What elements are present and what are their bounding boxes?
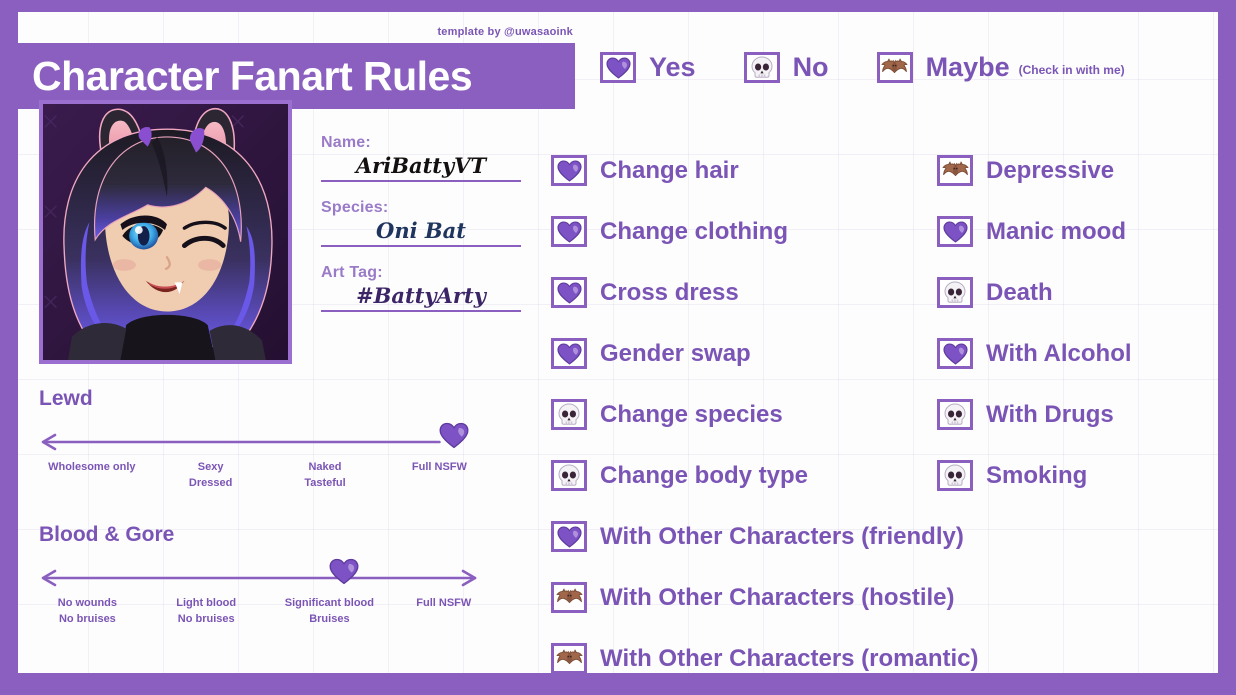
heart-icon <box>557 221 582 243</box>
slider-tick-line: Full NSFW <box>416 595 471 611</box>
slider-tick-line: Significant blood <box>285 595 374 611</box>
rule-row[interactable]: Change hair <box>551 140 937 201</box>
slider-tick-line: No bruises <box>58 611 117 627</box>
icon-box-heart <box>937 338 973 369</box>
legend-sublabel: (Check in with me) <box>1019 63 1125 83</box>
slider-tick-line: No wounds <box>58 595 117 611</box>
slider-tick: Full NSFW <box>416 595 471 611</box>
info-field: Art Tag:#BattyArty <box>321 264 521 312</box>
info-field-value[interactable]: AriBattyVT <box>321 152 521 182</box>
rule-row[interactable]: With Other Characters (romantic) <box>551 628 1211 673</box>
rule-label: Change species <box>600 401 783 429</box>
slider-tick-line: No bruises <box>176 611 236 627</box>
rule-label: Depressive <box>986 157 1114 185</box>
legend-item-maybe: Maybe(Check in with me) <box>877 52 1125 83</box>
rule-row[interactable]: Change clothing <box>551 201 937 262</box>
slider-tick-line: Full NSFW <box>412 459 467 475</box>
slider-tick: Light bloodNo bruises <box>176 595 236 627</box>
rules-wide-rows: With Other Characters (friendly)With Oth… <box>551 506 1211 673</box>
icon-box-skull <box>937 460 973 491</box>
rule-row[interactable]: Death <box>937 262 1211 323</box>
skull-icon <box>944 281 966 305</box>
rule-label: Cross dress <box>600 279 739 307</box>
slider-track[interactable] <box>39 427 519 457</box>
rules-right-column: DepressiveManic moodDeathWith AlcoholWit… <box>937 140 1211 506</box>
heart-icon <box>606 57 631 79</box>
info-field-label: Name: <box>321 134 521 152</box>
rule-row[interactable]: With Alcohol <box>937 323 1211 384</box>
slider-track[interactable] <box>39 563 519 593</box>
slider-tick-line: Naked <box>304 459 345 475</box>
info-field-label: Art Tag: <box>321 264 521 282</box>
rule-label: With Other Characters (romantic) <box>600 645 979 673</box>
rule-label: With Drugs <box>986 401 1114 429</box>
heart-icon <box>943 221 968 243</box>
icon-box-skull <box>551 399 587 430</box>
skull-icon <box>944 403 966 427</box>
slider-title: Lewd <box>39 387 519 411</box>
icon-box-skull <box>551 460 587 491</box>
lewd-slider[interactable]: LewdWholesome onlySexyDressedNakedTastef… <box>39 387 519 499</box>
icon-box-heart <box>551 216 587 247</box>
heart-icon <box>557 282 582 304</box>
slider-tick-line: Dressed <box>189 475 232 491</box>
bat-icon <box>942 161 969 181</box>
slider-tick-line: Wholesome only <box>48 459 135 475</box>
icon-box-bat <box>877 52 913 83</box>
rule-label: Smoking <box>986 462 1087 490</box>
slider-tick-line: Sexy <box>189 459 232 475</box>
rule-row[interactable]: Change body type <box>551 445 937 506</box>
rule-row[interactable]: With Drugs <box>937 384 1211 445</box>
slider-tick-labels: No woundsNo bruisesLight bloodNo bruises… <box>39 595 519 635</box>
legend-label: Maybe <box>926 52 1010 83</box>
rules-list: Change hairChange clothingCross dressGen… <box>551 140 1211 673</box>
heart-icon <box>557 343 582 365</box>
info-field: Name:AriBattyVT <box>321 134 521 182</box>
rule-label: With Alcohol <box>986 340 1132 368</box>
rule-row[interactable]: Smoking <box>937 445 1211 506</box>
slider-axis <box>39 427 489 457</box>
icon-box-bat <box>551 582 587 613</box>
slider-tick-labels: Wholesome onlySexyDressedNakedTastefulFu… <box>39 459 519 499</box>
icon-box-heart <box>551 155 587 186</box>
slider-tick: SexyDressed <box>189 459 232 491</box>
slider-tick-line: Tasteful <box>304 475 345 491</box>
slider-tick: Full NSFW <box>412 459 467 475</box>
bat-icon <box>556 649 583 669</box>
heart-icon <box>943 343 968 365</box>
rule-label: Change hair <box>600 157 739 185</box>
legend: YesNoMaybe(Check in with me) <box>600 52 1125 83</box>
rule-label: Manic mood <box>986 218 1126 246</box>
skull-icon <box>751 56 773 80</box>
skull-icon <box>558 403 580 427</box>
icon-box-bat <box>937 155 973 186</box>
heart-icon <box>557 526 582 548</box>
rules-sheet: template by @uwasaoink Character Fanart … <box>18 12 1218 673</box>
icon-box-heart <box>600 52 636 83</box>
character-portrait <box>39 100 292 364</box>
icon-box-heart <box>551 277 587 308</box>
slider-tick-line: Light blood <box>176 595 236 611</box>
rules-left-column: Change hairChange clothingCross dressGen… <box>551 140 937 506</box>
icon-box-heart <box>551 338 587 369</box>
bat-icon <box>556 588 583 608</box>
rule-row[interactable]: With Other Characters (hostile) <box>551 567 1211 628</box>
skull-icon <box>944 464 966 488</box>
legend-label: No <box>793 52 829 83</box>
slider-tick: No woundsNo bruises <box>58 595 117 627</box>
legend-item-no: No <box>744 52 829 83</box>
info-field: Species:Oni Bat <box>321 199 521 247</box>
slider-axis <box>39 563 489 593</box>
portrait-artwork <box>43 104 288 360</box>
rule-label: Change clothing <box>600 218 788 246</box>
rule-row[interactable]: Change species <box>551 384 937 445</box>
rule-label: With Other Characters (hostile) <box>600 584 955 612</box>
slider-heart-marker[interactable] <box>329 558 359 585</box>
slider-tick-line: Bruises <box>285 611 374 627</box>
icon-box-heart <box>937 216 973 247</box>
rule-row[interactable]: With Other Characters (friendly) <box>551 506 1211 567</box>
slider-tick: Wholesome only <box>48 459 135 475</box>
slider-title: Blood & Gore <box>39 523 519 547</box>
icon-box-heart <box>551 521 587 552</box>
heart-icon <box>557 160 582 182</box>
rule-row[interactable]: Manic mood <box>937 201 1211 262</box>
icon-box-bat <box>551 643 587 673</box>
rule-label: Change body type <box>600 462 808 490</box>
legend-label: Yes <box>649 52 696 83</box>
rule-row[interactable]: Cross dress <box>551 262 937 323</box>
character-info: Name:AriBattyVTSpecies:Oni BatArt Tag:#B… <box>321 134 521 329</box>
bat-icon <box>881 58 908 78</box>
slider-heart-marker[interactable] <box>439 422 469 449</box>
rule-label: With Other Characters (friendly) <box>600 523 964 551</box>
info-field-value[interactable]: #BattyArty <box>321 282 521 312</box>
page-title: Character Fanart Rules <box>18 53 472 100</box>
rule-row[interactable]: Gender swap <box>551 323 937 384</box>
rule-label: Gender swap <box>600 340 751 368</box>
icon-box-skull <box>744 52 780 83</box>
skull-icon <box>558 464 580 488</box>
legend-item-yes: Yes <box>600 52 696 83</box>
info-field-label: Species: <box>321 199 521 217</box>
rule-row[interactable]: Depressive <box>937 140 1211 201</box>
info-field-value[interactable]: Oni Bat <box>321 217 521 247</box>
slider-tick: Significant bloodBruises <box>285 595 374 627</box>
blood-gore-slider[interactable]: Blood & GoreNo woundsNo bruisesLight blo… <box>39 523 519 635</box>
template-credit: template by @uwasaoink <box>437 26 573 38</box>
slider-tick: NakedTasteful <box>304 459 345 491</box>
icon-box-skull <box>937 277 973 308</box>
page-frame: template by @uwasaoink Character Fanart … <box>0 0 1236 695</box>
icon-box-skull <box>937 399 973 430</box>
rule-label: Death <box>986 279 1053 307</box>
